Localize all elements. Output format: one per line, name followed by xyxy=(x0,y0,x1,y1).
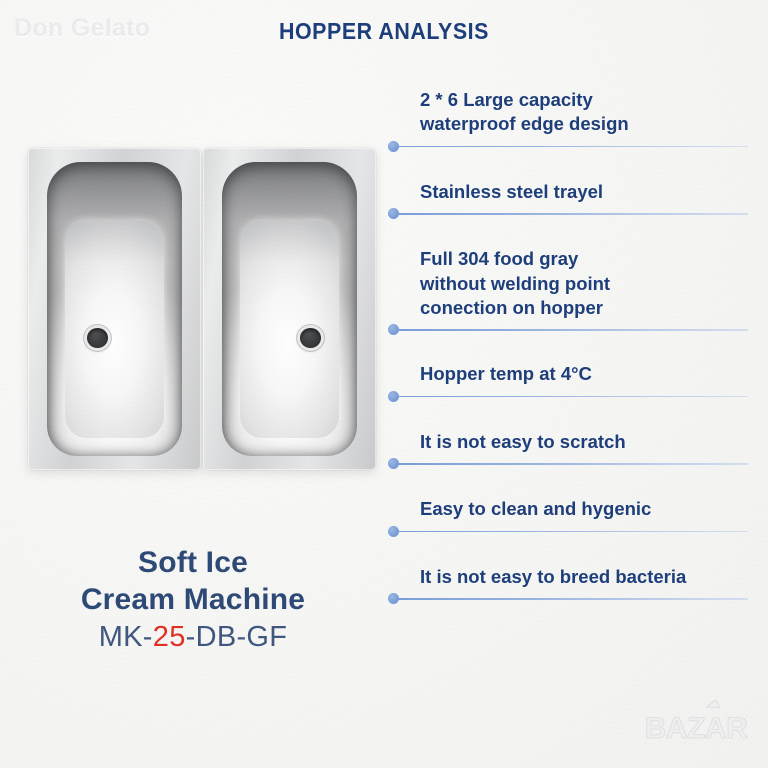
feature-item: It is not easy to scratch xyxy=(388,430,756,469)
hopper-left-drain-icon xyxy=(87,328,108,348)
feature-text: Easy to clean and hygenic xyxy=(388,497,756,521)
divider-line xyxy=(397,463,748,465)
product-name-line-1: Soft Ice xyxy=(10,545,376,582)
feature-list: 2 * 6 Large capacity waterproof edge des… xyxy=(388,88,756,604)
divider-line xyxy=(397,329,748,331)
feature-divider xyxy=(388,593,756,604)
feature-item: Hopper temp at 4°C xyxy=(388,362,756,401)
feature-divider xyxy=(388,324,756,335)
feature-item: It is not easy to breed bacteria xyxy=(388,565,756,604)
feature-text: 2 * 6 Large capacity waterproof edge des… xyxy=(388,88,756,137)
feature-divider xyxy=(388,141,756,152)
feature-divider xyxy=(388,208,756,219)
product-model-number: MK-25-DB-GF xyxy=(10,621,376,654)
divider-line xyxy=(397,598,748,600)
product-caption: Soft Ice Cream Machine MK-25-DB-GF xyxy=(10,545,376,654)
divider-line xyxy=(397,396,748,398)
product-image xyxy=(28,148,376,470)
hopper-right-basin xyxy=(222,162,357,455)
feature-text: Full 304 food gray without welding point… xyxy=(388,247,756,320)
infographic-page: Don Gelato HOPPER ANALYSIS Soft Ice Crea… xyxy=(0,0,768,768)
hopper-left-basin xyxy=(47,162,182,455)
feature-text: Stainless steel trayel xyxy=(388,180,756,204)
bazar-watermark: BAZAR xyxy=(636,688,756,752)
feature-item: Stainless steel trayel xyxy=(388,180,756,219)
hopper-left xyxy=(28,148,201,470)
feature-item: 2 * 6 Large capacity waterproof edge des… xyxy=(388,88,756,152)
product-name-line-2: Cream Machine xyxy=(10,582,376,619)
model-accent: 25 xyxy=(153,621,186,653)
hopper-pair xyxy=(28,148,376,470)
hopper-right xyxy=(203,148,376,470)
feature-text: Hopper temp at 4°C xyxy=(388,362,756,386)
feature-divider xyxy=(388,526,756,537)
feature-item: Easy to clean and hygenic xyxy=(388,497,756,536)
divider-line xyxy=(397,531,748,533)
hopper-right-drain-icon xyxy=(300,328,321,348)
feature-text: It is not easy to breed bacteria xyxy=(388,565,756,589)
feature-divider xyxy=(388,391,756,402)
feature-text: It is not easy to scratch xyxy=(388,430,756,454)
divider-line xyxy=(397,146,748,148)
page-title: HOPPER ANALYSIS xyxy=(27,18,741,45)
model-prefix: MK- xyxy=(99,621,153,653)
bazar-wordmark: BAZAR xyxy=(645,712,748,745)
feature-item: Full 304 food gray without welding point… xyxy=(388,247,756,335)
divider-line xyxy=(397,213,748,215)
feature-divider xyxy=(388,458,756,469)
model-suffix: -DB-GF xyxy=(186,621,288,653)
